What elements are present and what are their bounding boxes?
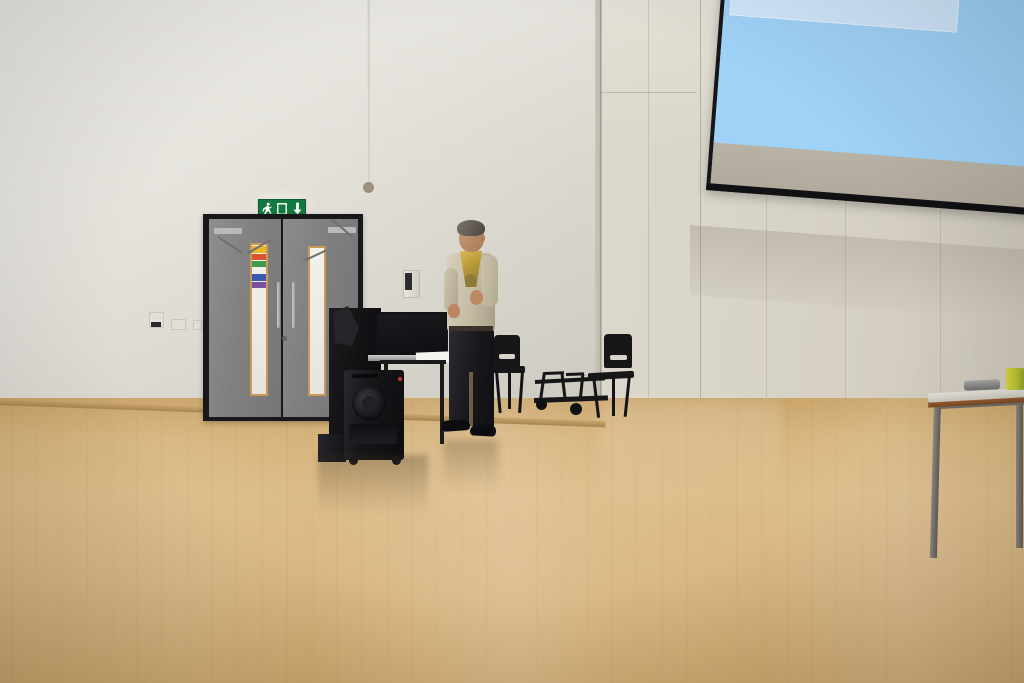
door-lock[interactable]: [282, 336, 287, 341]
floor-window-reflection: [600, 400, 780, 520]
door-right-glass: [310, 248, 324, 394]
wall-socket-dark[interactable]: [151, 322, 161, 327]
presenter-right-arm: [481, 255, 498, 307]
yellow-green-can[interactable]: [1006, 368, 1024, 390]
presenter-hand-left: [448, 304, 460, 318]
speaker-carry-handle[interactable]: [352, 374, 378, 378]
av-table-apron: [380, 360, 446, 364]
speaker-dust-cap: [362, 396, 376, 410]
floor-reflection-sheen: [0, 398, 1024, 683]
wall-plate-3[interactable]: [193, 320, 202, 330]
photo-scene: Netherlands: [0, 0, 1024, 683]
chair-right-back[interactable]: [604, 334, 632, 368]
door-sticker-green: [252, 261, 266, 267]
exit-sign-door-icon: [274, 203, 289, 215]
chair-left-leg-3: [508, 369, 511, 409]
presenter-leg-gap: [469, 372, 473, 428]
trolley-hoop-2: [566, 372, 584, 376]
speaker-bass-port: [349, 424, 397, 444]
conduit-end-cap: [363, 182, 374, 193]
door-sticker-orange: [252, 254, 266, 260]
speaker-floor-reflection: [318, 455, 428, 515]
chair-right-back-slot: [610, 355, 627, 360]
presentation-slide: Netherlands: [714, 0, 1024, 170]
door-closer-left: [214, 228, 242, 234]
presenter-shoe-left: [442, 419, 471, 432]
partition-seam-2: [648, 0, 649, 402]
presenter-hand-right: [470, 290, 483, 305]
fire-door-left[interactable]: [209, 219, 281, 417]
presenter-scout-leader: [440, 222, 500, 444]
door-sticker-purple: [252, 282, 266, 288]
door-sticker-blue: [252, 274, 266, 281]
chair-right-leg-3: [612, 376, 615, 416]
grey-remote[interactable]: [964, 379, 1000, 391]
trolley-wheel-right: [570, 403, 582, 415]
power-led-indicator: [398, 377, 402, 381]
projection-screen: Netherlands: [706, 0, 1024, 216]
door-handle-right[interactable]: [292, 282, 295, 328]
presenter-ear: [480, 234, 485, 242]
trolley-wheel-left: [536, 399, 547, 410]
dispenser-nozzle: [405, 273, 412, 290]
presenter-belt: [449, 326, 493, 331]
partition-horizontal-seam: [600, 92, 696, 93]
wall-plate-2[interactable]: [171, 319, 186, 330]
partition-seam-3: [700, 0, 701, 405]
map-graphic: Netherlands: [729, 0, 973, 33]
partition-seam-1: [600, 0, 601, 400]
ceiling-conduit-pipe: [367, 0, 370, 186]
presenter-shoe-right: [470, 424, 497, 436]
presenter-woggle: [465, 274, 476, 287]
presenter-floor-reflection: [444, 440, 498, 490]
door-handle-left[interactable]: [277, 282, 280, 328]
door-sticker-white: [252, 268, 266, 273]
table-leg-right: [1016, 398, 1023, 548]
chair-left-back-slot: [499, 354, 515, 359]
